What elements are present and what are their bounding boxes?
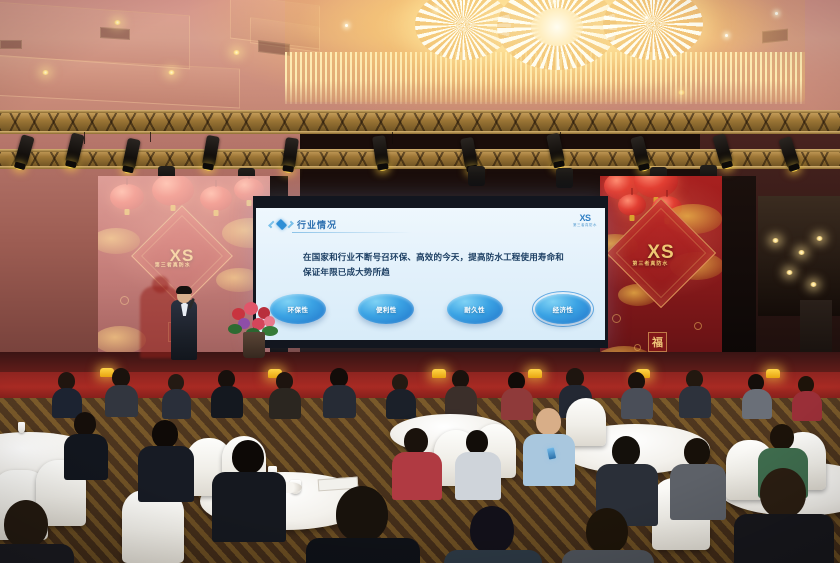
ceiling-downlight — [233, 50, 240, 55]
slide-body-text: 在国家和行业不断号召环保、高效的今天，提高防水工程使用寿命和保证年限已成大势所趋 — [303, 250, 565, 280]
slide-pill-4: 经济性 — [535, 294, 591, 324]
ceiling — [0, 0, 840, 128]
slide-pill-3-label: 耐久性 — [464, 304, 485, 314]
conference-hall-photo: XS 第三者真防水 福 XS 第三者真防水 福 — [0, 0, 840, 563]
slide-pill-2-label: 便利性 — [376, 304, 397, 314]
slide-logo-mark: XS — [573, 214, 597, 223]
slide-pill-4-label: 经济性 — [553, 304, 574, 314]
slide-pill-row: 环保性 便利性 耐久性 经济性 — [270, 294, 591, 324]
moving-head-light — [468, 166, 485, 186]
flower-vase — [243, 332, 265, 358]
stage-light — [372, 135, 389, 167]
ceiling-downlight — [114, 20, 121, 25]
cloud-motif — [98, 326, 146, 354]
slide-logo: XS 第三者真防水 — [573, 214, 597, 228]
slide-title: 行业情况 — [297, 218, 337, 231]
backdrop-logo-sub: 第三者真防水 — [138, 261, 208, 268]
ceiling-vent — [100, 27, 130, 40]
back-room-area — [758, 196, 840, 316]
ceiling-vent — [0, 40, 22, 49]
ceiling-panel — [0, 55, 240, 108]
moving-head-light — [556, 168, 573, 188]
stage-uplight — [432, 369, 446, 378]
lantern — [110, 184, 144, 210]
backdrop-logo-mark: XS — [147, 246, 217, 266]
lantern — [200, 186, 232, 211]
lantern — [634, 176, 678, 198]
chandelier-core — [531, 8, 583, 46]
slide-pill-3: 耐久性 — [447, 294, 503, 324]
stage-uplight — [766, 369, 780, 378]
diamond-chevron-icon — [270, 220, 292, 229]
slide-pill-1-label: 环保性 — [288, 304, 309, 314]
lantern — [618, 194, 646, 216]
ceiling-downlight — [42, 70, 49, 75]
ceiling-downlight — [168, 70, 175, 75]
stage-uplight — [528, 369, 542, 378]
cloud-motif — [98, 228, 140, 254]
presentation-slide: 行业情况 XS 第三者真防水 在国家和行业不断号召环保、高效的今天，提高防水工程… — [256, 208, 605, 340]
water-bottle — [18, 422, 25, 433]
title-underline — [292, 232, 412, 233]
slide-header: 行业情况 — [270, 216, 595, 232]
backdrop-logo-sub: 第三者真防水 — [612, 260, 688, 267]
fu-character-right: 福 — [648, 332, 667, 352]
slide-pill-2: 便利性 — [358, 294, 414, 324]
speaker-hair — [176, 286, 192, 294]
lighting-truss-upper — [0, 112, 840, 132]
lantern — [152, 176, 194, 206]
slide-logo-sub: 第三者真防水 — [573, 224, 597, 228]
crystal-chandelier — [285, 0, 805, 102]
